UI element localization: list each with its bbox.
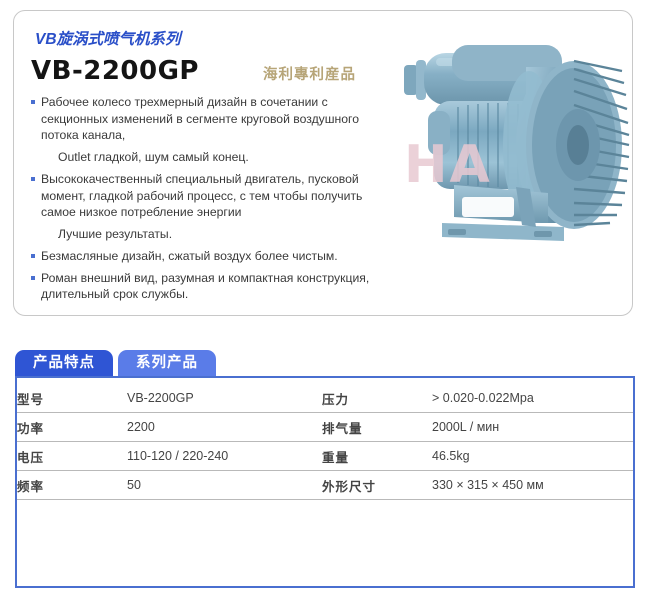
spec-value: 110-120 / 220-240 xyxy=(127,442,322,471)
feature-list: Рабочее колесо трехмерный дизайн в сочет… xyxy=(28,94,398,303)
product-model-name: VB-2200GP xyxy=(31,56,199,86)
table-row: 型号 VB-2200GP 压力 > 0.020-0.022Mpa xyxy=(17,384,633,413)
feature-text: Высококачественный специальный двигатель… xyxy=(41,172,362,219)
spec-label: 型号 xyxy=(17,384,127,413)
spec-label: 频率 xyxy=(17,471,127,500)
tab-series-products[interactable]: 系列产品 xyxy=(118,350,216,376)
spec-label: 功率 xyxy=(17,413,127,442)
table-row: 功率 2200 排气量 2000L / мин xyxy=(17,413,633,442)
inlet-port xyxy=(404,60,426,100)
table-row: 电压 110-120 / 220-240 重量 46.5kg xyxy=(17,442,633,471)
spec-value: 46.5kg xyxy=(432,442,633,471)
mounting-base xyxy=(442,185,564,241)
feature-text: Рабочее колесо трехмерный дизайн в сочет… xyxy=(41,95,359,142)
feature-text: Безмасляные дизайн, сжатый воздух более … xyxy=(41,249,338,263)
table-row: 频率 50 外形尺寸 330 × 315 × 450 мм xyxy=(17,471,633,500)
spec-label: 外形尺寸 xyxy=(322,471,432,500)
model-row: VB-2200GP 海利專利産品 xyxy=(31,58,398,88)
spec-value: 2200 xyxy=(127,413,322,442)
tab-bar: 产品特点系列产品 xyxy=(15,350,216,376)
bullet-square-icon xyxy=(31,254,35,258)
spec-value: 50 xyxy=(127,471,322,500)
spec-label: 重量 xyxy=(322,442,432,471)
product-series-title: VB旋涡式喷气机系列 xyxy=(35,27,398,49)
ring-blower-illustration xyxy=(396,27,632,279)
feature-subnote: Outlet гладкой, шум самый конец. xyxy=(28,149,398,166)
specification-table: 型号 VB-2200GP 压力 > 0.020-0.022Mpa 功率 2200… xyxy=(17,384,633,500)
feature-item: Роман внешний вид, разумная и компактная… xyxy=(28,270,398,303)
product-overview-panel: VB旋涡式喷气机系列 VB-2200GP 海利專利産品 Рабочее коле… xyxy=(13,10,633,316)
bullet-square-icon xyxy=(31,177,35,181)
spec-value: VB-2200GP xyxy=(127,384,322,413)
feature-item: Рабочее колесо трехмерный дизайн в сочет… xyxy=(28,94,398,144)
feature-item: Безмасляные дизайн, сжатый воздух более … xyxy=(28,248,398,265)
spec-value: 2000L / мин xyxy=(432,413,633,442)
patent-badge: 海利專利産品 xyxy=(263,63,356,84)
product-photo: HA xyxy=(396,27,632,279)
spec-label: 压力 xyxy=(322,384,432,413)
feature-text: Роман внешний вид, разумная и компактная… xyxy=(41,271,369,302)
spec-value: 330 × 315 × 450 мм xyxy=(432,471,633,500)
spec-label: 排气量 xyxy=(322,413,432,442)
feature-item: Высококачественный специальный двигатель… xyxy=(28,171,398,221)
bullet-square-icon xyxy=(31,100,35,104)
tab-product-features[interactable]: 产品特点 xyxy=(15,350,113,376)
spec-value: > 0.020-0.022Mpa xyxy=(432,384,633,413)
spec-label: 电压 xyxy=(17,442,127,471)
feature-subnote: Лучшие результаты. xyxy=(28,226,398,243)
product-info-column: VB旋涡式喷气机系列 VB-2200GP 海利專利産品 Рабочее коле… xyxy=(28,27,398,308)
specification-panel: 型号 VB-2200GP 压力 > 0.020-0.022Mpa 功率 2200… xyxy=(15,376,635,588)
bullet-square-icon xyxy=(31,276,35,280)
